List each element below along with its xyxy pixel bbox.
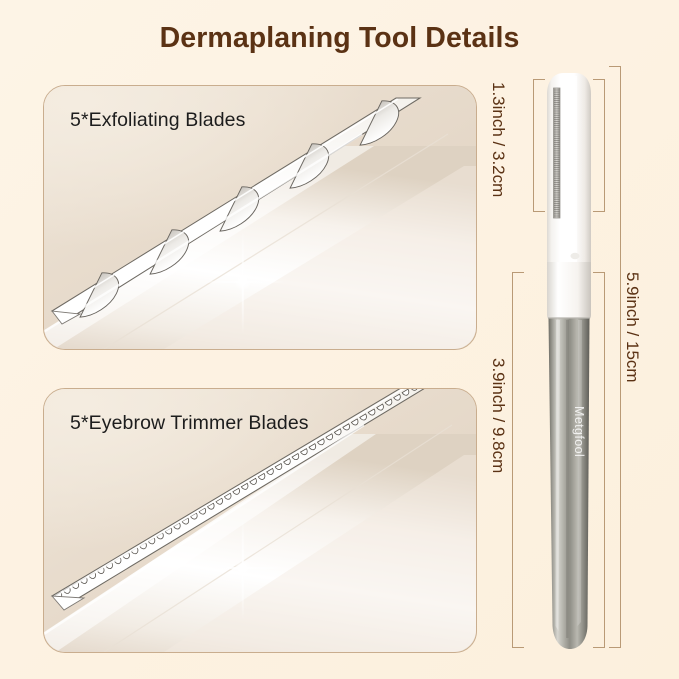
bracket-blade-left	[533, 79, 546, 212]
dimension-label-blade-width: 1.3inch / 3.2cm	[488, 82, 508, 197]
panel-label-exfoliating: 5*Exfoliating Blades	[70, 109, 245, 132]
panel-label-trimmer: 5*Eyebrow Trimmer Blades	[70, 412, 309, 435]
bracket-blade-right	[592, 79, 605, 212]
product-brand-text: Metgfool	[572, 406, 586, 457]
dimension-label-total-length: 5.9inch / 15cm	[622, 272, 642, 383]
page-title: Dermaplaning Tool Details	[0, 22, 679, 55]
bracket-handle-right	[592, 272, 605, 648]
dimension-label-handle-length: 3.9inch / 9.8cm	[488, 358, 508, 473]
bracket-handle-left	[512, 272, 525, 648]
bracket-total-length	[608, 66, 621, 648]
product-infographic: Dermaplaning Tool Details	[0, 0, 679, 679]
detail-panel-trimmer: 5*Eyebrow Trimmer Blades	[43, 388, 477, 653]
detail-panel-exfoliating: 5*Exfoliating Blades	[43, 85, 477, 350]
